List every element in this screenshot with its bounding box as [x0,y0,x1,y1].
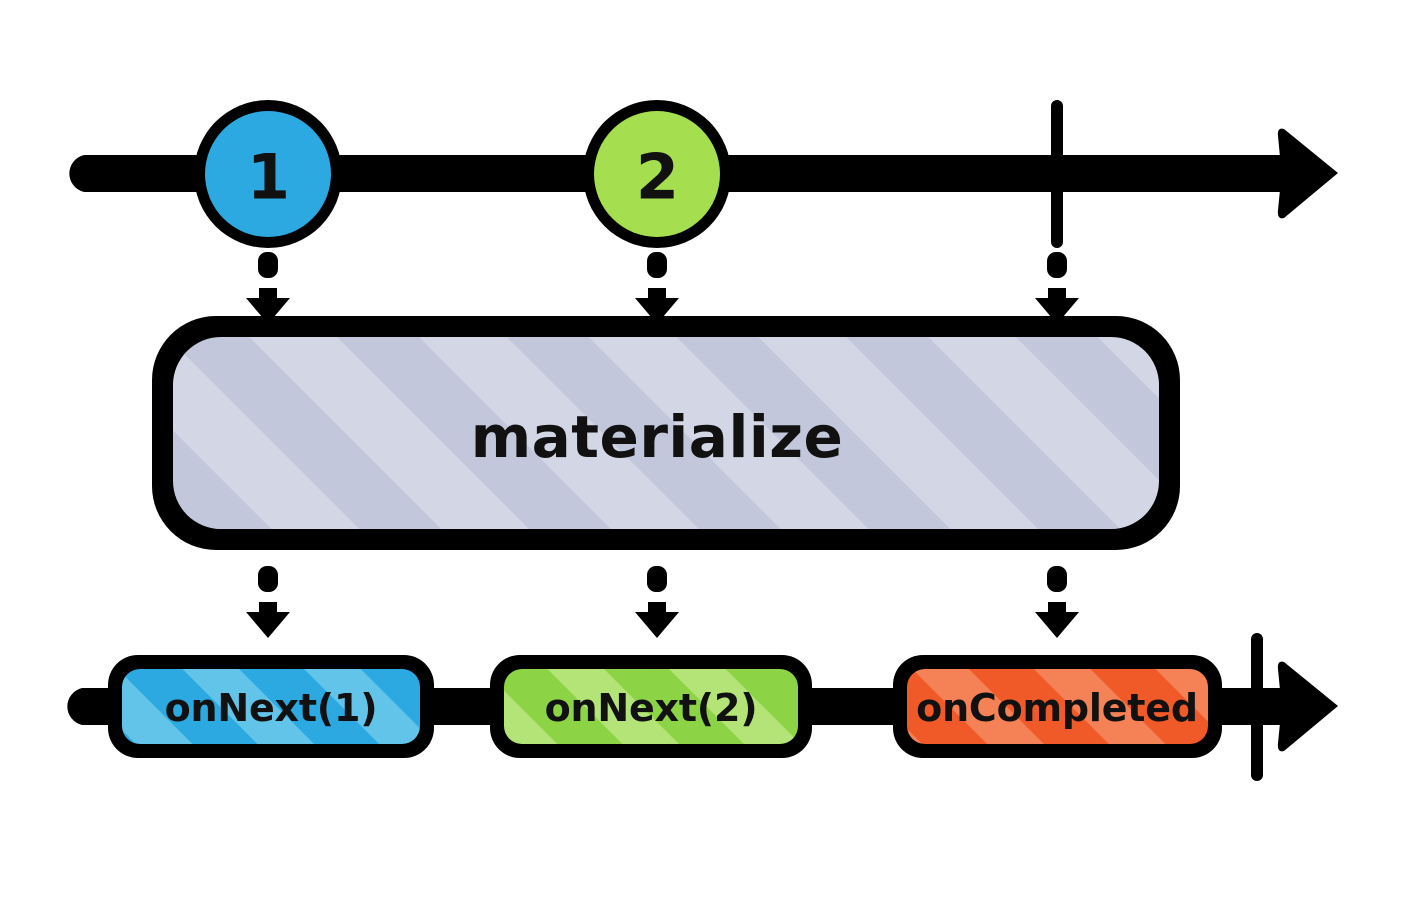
projection-arrow-icon [246,566,290,638]
operator-box[interactable]: materialize [152,316,1180,550]
notification-box-onnext-1[interactable]: onNext(1) [108,655,434,758]
marble-value-label: 1 [247,141,289,214]
projection-arrow-icon [1035,252,1079,324]
notification-label: onNext(2) [545,686,758,730]
projection-arrow-icon [1035,566,1079,638]
source-timeline: 1 2 [69,100,1338,248]
projection-arrows-top [246,252,1079,324]
marble-value-label: 2 [636,141,678,214]
projection-arrow-icon [635,566,679,638]
result-timeline: onNext(1) onNext(2) onCompleted [67,633,1338,781]
notification-label: onNext(1) [165,686,378,730]
diagram-canvas: 1 2 materialize [0,0,1401,901]
source-marble-2[interactable]: 2 [583,100,731,248]
operator-name-label: materialize [471,403,844,471]
result-timeline-arrowhead [1278,662,1338,752]
source-complete-bar [1051,100,1063,248]
notification-box-oncompleted[interactable]: onCompleted [893,655,1222,758]
marble-diagram: 1 2 materialize [0,0,1401,901]
projection-arrow-icon [246,252,290,324]
projection-arrow-icon [635,252,679,324]
notification-label: onCompleted [916,686,1198,730]
result-complete-bar [1251,633,1263,781]
projection-arrows-bottom [246,566,1079,638]
source-timeline-arrowhead [1278,129,1338,219]
notification-box-onnext-2[interactable]: onNext(2) [490,655,812,758]
source-marble-1[interactable]: 1 [194,100,342,248]
